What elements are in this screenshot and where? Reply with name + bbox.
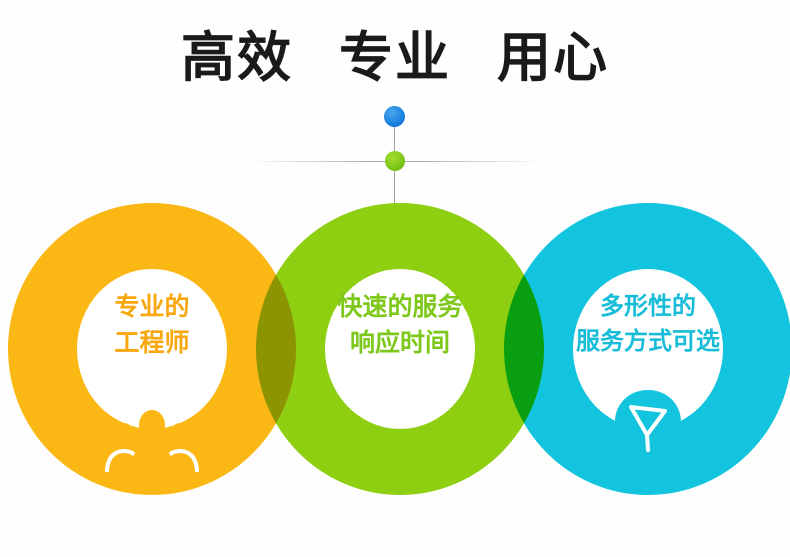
- venn-rings-group: [0, 0, 790, 557]
- ring-response-time: [256, 203, 544, 495]
- ring-service-options: [504, 203, 790, 495]
- infographic-canvas: 高效专业用心 专业的 工程师: [0, 0, 790, 557]
- ring-engineers: [8, 203, 296, 495]
